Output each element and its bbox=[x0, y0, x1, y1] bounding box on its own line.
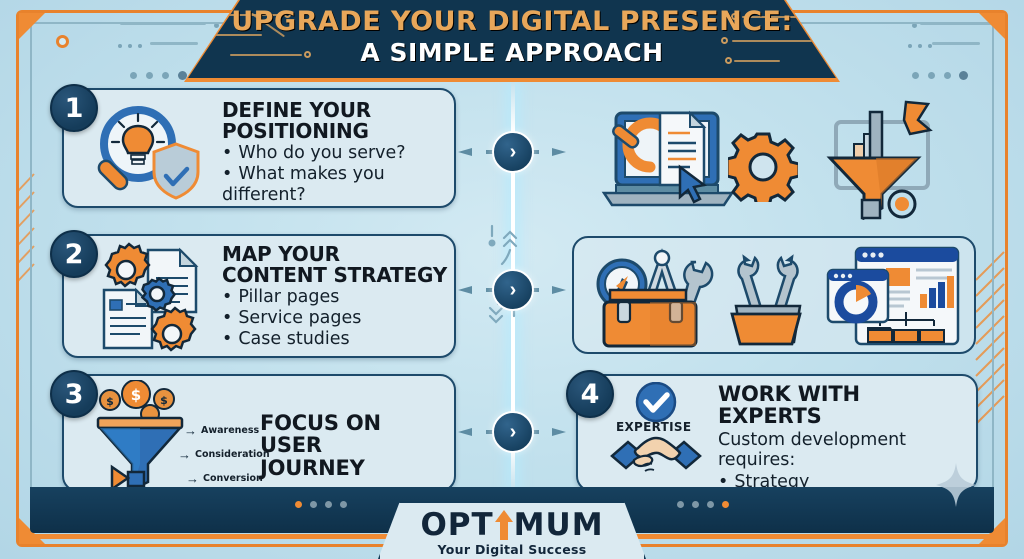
footer-dot-right-2 bbox=[707, 501, 714, 508]
step-4-title: WORK WITH EXPERTS bbox=[718, 383, 970, 428]
hatch-decoration-left bbox=[16, 170, 36, 300]
svg-text:$: $ bbox=[106, 395, 114, 408]
step-card-2[interactable]: MAP YOUR CONTENT STRATEGY Pillar pages S… bbox=[62, 234, 456, 358]
footer-dot-right-3 bbox=[692, 501, 699, 508]
browser-analytics-sitemap-icon bbox=[824, 244, 966, 352]
connector-2[interactable]: › bbox=[492, 269, 534, 311]
footer-dot-left-4 bbox=[340, 501, 347, 508]
magnifier-lightbulb-shield-icon bbox=[86, 100, 206, 202]
brand-logo[interactable]: OPT MUM Your Digital Success bbox=[378, 509, 646, 557]
footer-dot-right-4 bbox=[677, 501, 684, 508]
corner-notch-top-right bbox=[979, 13, 1005, 39]
step-4-lead: Custom development requires: bbox=[718, 430, 970, 471]
laptop-document-cursor-icon bbox=[598, 105, 738, 217]
connector-3[interactable]: › bbox=[492, 411, 534, 453]
list-item: Pillar pages bbox=[222, 287, 448, 308]
footer-dot-left-1 bbox=[295, 501, 302, 508]
corner-notch-top-left bbox=[19, 13, 45, 39]
header-banner: UPGRADE YOUR DIGITAL PRESENCE: A SIMPLE … bbox=[188, 0, 836, 78]
footer-dot-left-3 bbox=[325, 501, 332, 508]
footer-dot-right-1 bbox=[722, 501, 729, 508]
logo-text-part1: OPT bbox=[420, 510, 493, 541]
svg-text:$: $ bbox=[160, 394, 168, 407]
step-2-bullets: Pillar pages Service pages Case studies bbox=[222, 287, 448, 350]
gears-documents-icon bbox=[90, 242, 212, 354]
step-2-number-badge: 2 bbox=[50, 230, 98, 278]
folder-wrenches-icon bbox=[726, 254, 820, 346]
expertise-label: EXPERTISE bbox=[616, 420, 691, 434]
infographic-canvas: UPGRADE YOUR DIGITAL PRESENCE: A SIMPLE … bbox=[0, 0, 1024, 559]
hatch-decoration-right bbox=[974, 250, 1008, 430]
step-2-title: MAP YOUR CONTENT STRATEGY bbox=[222, 244, 448, 286]
step-card-1[interactable]: DEFINE YOUR POSITIONING Who do you serve… bbox=[62, 88, 456, 208]
banner-subtitle: A SIMPLE APPROACH bbox=[188, 38, 836, 67]
list-item: Service pages bbox=[222, 308, 448, 329]
step-card-3[interactable]: $ $ $ → Awareness → Consideration → Conv… bbox=[62, 374, 456, 492]
logo-tagline: Your Digital Success bbox=[378, 542, 646, 557]
svg-text:$: $ bbox=[131, 386, 141, 404]
step-3-title: FOCUS ON USER JOURNEY bbox=[260, 412, 448, 479]
step-1-title: DEFINE YOUR POSITIONING bbox=[222, 100, 446, 142]
list-item: What makes you different? bbox=[222, 164, 446, 206]
logo-text: OPT MUM bbox=[420, 509, 603, 541]
funnel-label-awareness: → Awareness bbox=[184, 423, 259, 438]
funnel-label-conversion: → Conversion bbox=[186, 471, 263, 486]
step-card-4[interactable]: EXPERTISE WORK WITH EXPERTS Custom devel… bbox=[576, 374, 978, 492]
list-item: Who do you serve? bbox=[222, 143, 446, 164]
logo-text-part2: MUM bbox=[514, 510, 604, 541]
handshake-expertise-icon bbox=[604, 382, 708, 486]
banner-title: UPGRADE YOUR DIGITAL PRESENCE: bbox=[188, 6, 836, 37]
funnel-monitor-icon bbox=[820, 100, 952, 220]
step-1-bullets: Who do you serve? What makes you differe… bbox=[222, 143, 446, 206]
sparkle-icon bbox=[936, 463, 976, 507]
footer-dot-left-2 bbox=[310, 501, 317, 508]
step-3-number-badge: 3 bbox=[50, 370, 98, 418]
step-1-number-badge: 1 bbox=[50, 84, 98, 132]
gear-icon bbox=[728, 132, 798, 202]
list-item: Case studies bbox=[222, 329, 448, 350]
funnel-label-consideration: → Consideration bbox=[178, 447, 270, 462]
illustration-panel-tools bbox=[572, 236, 976, 354]
toolbox-compass-wrench-icon bbox=[592, 246, 720, 350]
step-4-number-badge: 4 bbox=[566, 370, 614, 418]
connector-1[interactable]: › bbox=[492, 131, 534, 173]
arrow-up-icon bbox=[493, 509, 515, 541]
